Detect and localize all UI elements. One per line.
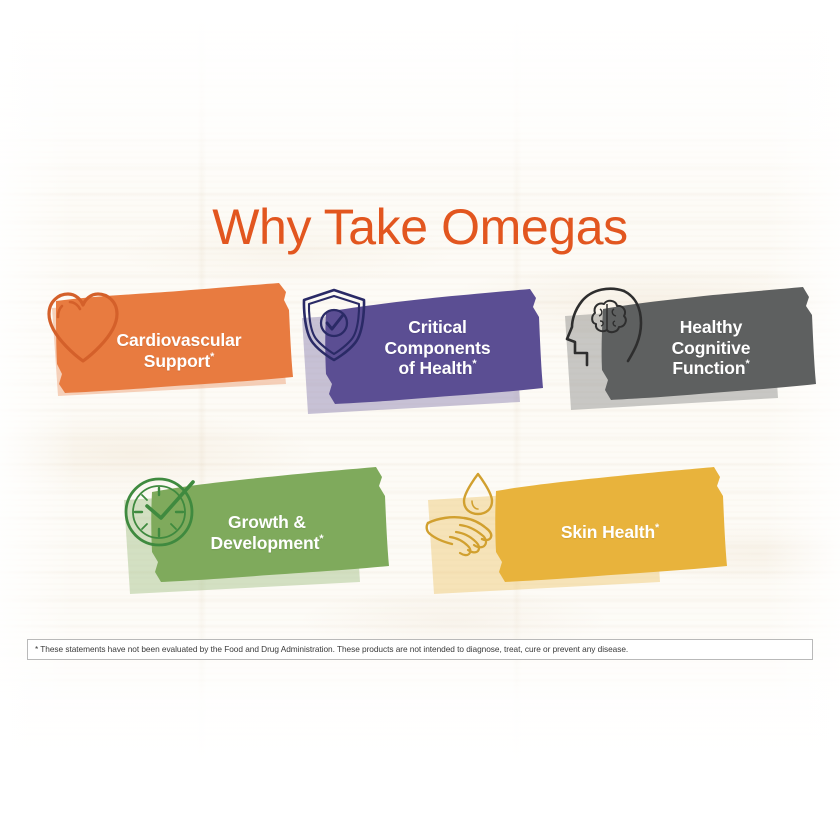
benefit-line-3: of Health xyxy=(398,358,472,378)
benefit-line-1: Growth & xyxy=(228,512,306,532)
fda-disclaimer: * These statements have not been evaluat… xyxy=(27,639,813,660)
benefit-card-skin-health: Skin Health* xyxy=(424,466,714,611)
clock-check-icon xyxy=(117,466,203,557)
infographic-canvas: Why Take Omegas Cardiovascular Support* xyxy=(0,0,840,840)
footnote-marker: * xyxy=(319,533,323,545)
benefit-label-skin-health: Skin Health* xyxy=(512,522,708,543)
benefit-line-2: Components xyxy=(385,338,491,358)
benefit-card-critical-components-of-health: Critical Components of Health* xyxy=(300,286,575,431)
page-title: Why Take Omegas xyxy=(0,198,840,256)
hand-droplet-icon xyxy=(420,468,520,569)
benefit-line-2: Support xyxy=(144,351,210,371)
footnote-marker: * xyxy=(210,351,214,363)
benefit-line-1: Cardiovascular xyxy=(116,330,241,350)
shield-check-icon xyxy=(295,285,373,372)
benefit-line-1: Critical xyxy=(408,317,467,337)
footnote-marker: * xyxy=(745,358,749,370)
benefit-line-2: Development xyxy=(211,533,320,553)
benefit-card-healthy-cognitive-function: Healthy Cognitive Function* xyxy=(565,286,837,431)
benefit-line-1: Skin Health xyxy=(561,522,655,542)
benefit-card-growth-and-development: Growth & Development* xyxy=(122,466,412,611)
benefit-line-1: Healthy xyxy=(680,317,743,337)
benefit-line-3: Function xyxy=(672,358,745,378)
footnote-marker: * xyxy=(655,522,659,534)
benefit-card-cardiovascular-support: Cardiovascular Support* xyxy=(42,286,332,426)
benefit-line-2: Cognitive xyxy=(672,338,751,358)
head-brain-icon xyxy=(562,283,646,374)
footnote-marker: * xyxy=(472,358,476,370)
heart-icon xyxy=(40,285,126,376)
